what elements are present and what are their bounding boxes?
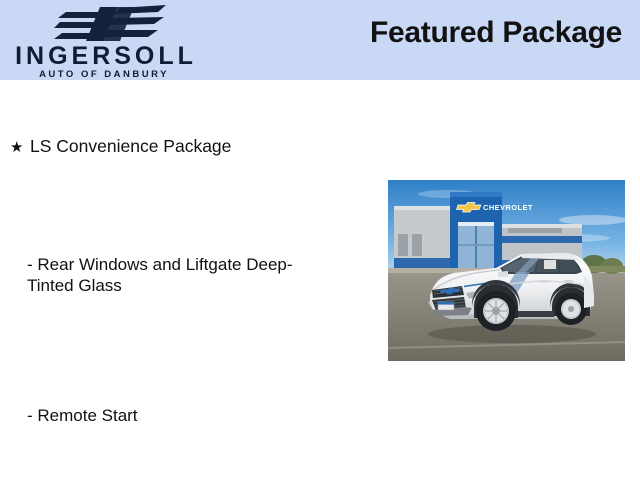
package-feature-item: - Rear Windows and Liftgate Deep-Tinted … [27, 254, 337, 296]
package-heading: ★LS Convenience Package [10, 136, 231, 157]
main-content: ★LS Convenience Package - Rear Windows a… [0, 80, 640, 480]
page-title: Featured Package [370, 16, 622, 50]
package-feature-item: - Remote Start [27, 405, 337, 426]
star-bullet-icon: ★ [10, 138, 30, 156]
brand-name: INGERSOLL [8, 44, 204, 69]
ingersoll-wing-emblem-icon [48, 3, 166, 43]
brand-logo: INGERSOLL AUTO OF DANBURY [0, 2, 210, 78]
package-heading-label: LS Convenience Package [30, 136, 231, 156]
vehicle-photo: CHEVROLET [388, 180, 625, 361]
page-header: INGERSOLL AUTO OF DANBURY Featured Packa… [0, 0, 640, 80]
brand-tagline: AUTO OF DANBURY [8, 70, 200, 80]
svg-text:CHEVROLET: CHEVROLET [483, 203, 533, 212]
